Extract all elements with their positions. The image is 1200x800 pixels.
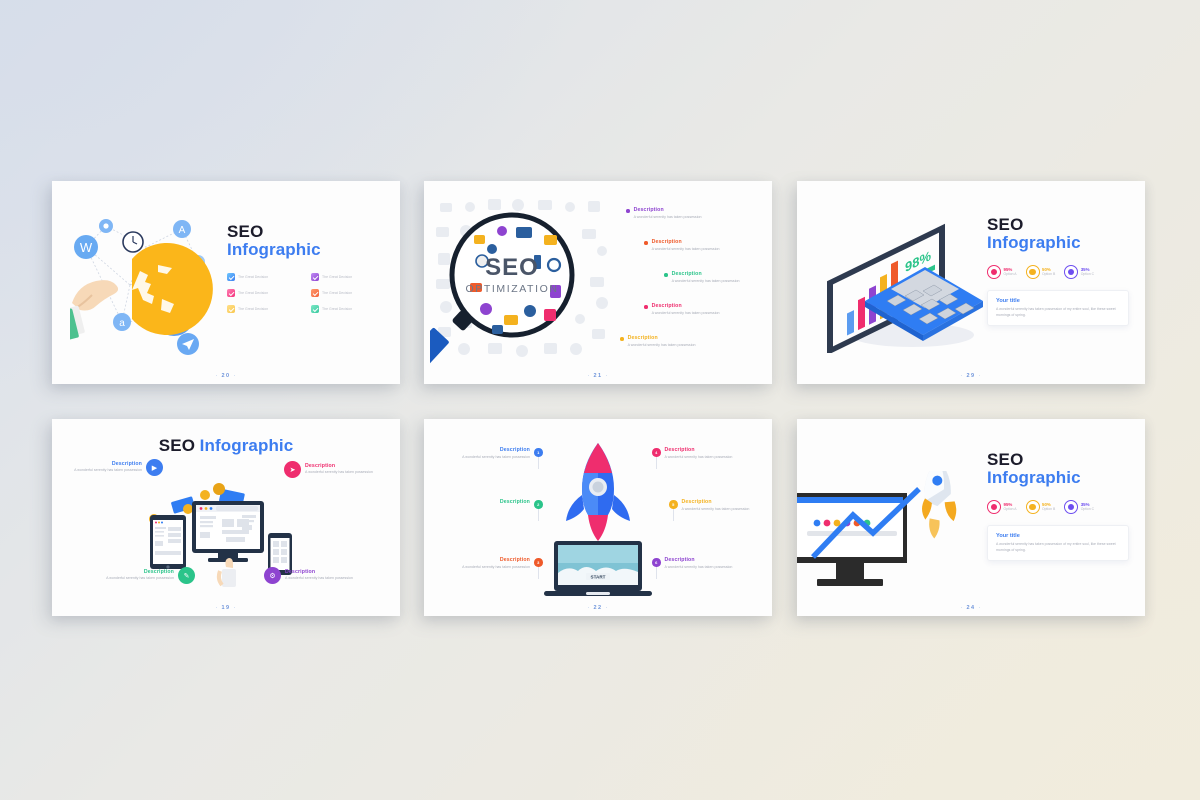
item-heading: Description — [665, 447, 739, 453]
card-body: A wonderful serenity has taken possessio… — [996, 542, 1120, 553]
magnifier-title: SEO — [485, 254, 539, 281]
page-number: · 21 · — [424, 373, 772, 379]
legend-label: The Great Decision — [322, 307, 352, 311]
check-icon — [311, 305, 319, 313]
slide-seo-network[interactable]: A W f a — [52, 181, 400, 384]
legend-label: The Great Decision — [322, 275, 352, 279]
item-heading: Description — [456, 447, 530, 453]
list-item[interactable]: Description A wonderful serenity has tak… — [664, 271, 740, 284]
list-item[interactable]: Description A wonderful serenity has tak… — [620, 335, 696, 348]
check-icon — [311, 273, 319, 281]
title-seo: SEO — [159, 436, 196, 455]
page-title: SEO Infographic — [987, 216, 1129, 252]
node-description-2[interactable]: ➤ Description A wonderful serenity has t… — [284, 461, 377, 478]
kpi-item[interactable]: 50% Option B — [1026, 265, 1056, 279]
svg-text:A: A — [179, 225, 186, 236]
page-title: SEO Infographic — [52, 437, 400, 456]
item-body: A wonderful serenity has taken possessio… — [634, 215, 702, 221]
item-body: A wonderful serenity has taken possessio… — [652, 247, 720, 253]
list-item[interactable]: The Great Decision — [311, 273, 387, 281]
slide-1-text-block: SEO Infographic The Great Decision The G… — [227, 223, 387, 313]
step-marker: 3 — [534, 558, 543, 567]
slide-seo-rocket[interactable]: START Description A wonderful serenity h… — [424, 419, 772, 616]
list-item[interactable]: The Great Decision — [227, 289, 303, 297]
title-infographic: Infographic — [987, 469, 1129, 487]
kpi-item[interactable]: 50% Option B — [1026, 500, 1056, 514]
title-seo: SEO — [987, 451, 1129, 469]
isometric-laptop-calculator-illustration: 98% — [807, 213, 987, 358]
page-number: · 20 · — [52, 373, 400, 379]
item-heading: Description — [652, 239, 720, 245]
slide-3-text-block: SEO Infographic 95% Option A 50% Option … — [987, 216, 1129, 326]
title-seo: SEO — [987, 216, 1129, 234]
rocket-laptop-illustration: START — [540, 437, 656, 604]
card-title: Your title — [996, 298, 1120, 304]
item-body: A wonderful serenity has taken possessio… — [285, 576, 357, 582]
chat-icon: ▶ — [146, 459, 163, 476]
kpi-item[interactable]: 35% Option C — [1064, 265, 1094, 279]
item-heading: Description — [456, 557, 530, 563]
item-heading: Description — [672, 271, 740, 277]
step-marker: 4 — [652, 448, 661, 457]
slide-6-text-block: SEO Infographic 95% Option A 50% Option … — [987, 451, 1129, 561]
kpi-option: Option C — [1081, 272, 1094, 276]
check-icon — [311, 289, 319, 297]
list-item[interactable]: Description A wonderful serenity has tak… — [626, 207, 702, 220]
list-item[interactable]: The Great Decision — [227, 305, 303, 313]
legend-label: The Great Decision — [322, 291, 352, 295]
step-marker: 2 — [534, 500, 543, 509]
step-marker: 1 — [534, 448, 543, 457]
list-item[interactable]: The Great Decision — [311, 305, 387, 313]
bullet-dot — [620, 337, 624, 341]
page-title: SEO Infographic — [227, 223, 387, 259]
kpi-option: Option A — [1004, 272, 1017, 276]
list-item[interactable]: The Great Decision — [311, 289, 387, 297]
step-marker: 6 — [652, 558, 661, 567]
kpi-row: 95% Option A 50% Option B 35% Option C — [987, 500, 1129, 514]
svg-text:W: W — [80, 240, 93, 255]
step-marker: 5 — [669, 500, 678, 509]
kpi-option: Option A — [1004, 507, 1017, 511]
slide-seo-optimization[interactable]: SEO OPTIMIZATION Description A wonderful… — [424, 181, 772, 384]
star-icon — [1064, 500, 1078, 514]
title-infographic: Infographic — [227, 241, 387, 259]
bullet-dot — [644, 241, 648, 245]
legend-label: The Great Decision — [238, 275, 268, 279]
kpi-option: Option C — [1081, 507, 1094, 511]
item-body: A wonderful serenity has taken possessio… — [672, 279, 740, 285]
item-body: A wonderful serenity has taken possessio… — [102, 576, 174, 582]
item-heading: Description — [456, 499, 530, 505]
page-number: · 29 · — [797, 373, 1145, 379]
page-number: · 19 · — [52, 605, 400, 611]
node-description-6[interactable]: 6 Description A wonderful serenity has t… — [652, 557, 739, 570]
monitor-growth-rocket-illustration — [797, 471, 983, 601]
item-body: A wonderful serenity has taken possessio… — [456, 455, 530, 461]
item-body: A wonderful serenity has taken possessio… — [70, 468, 142, 474]
node-description-1[interactable]: Description A wonderful serenity has tak… — [456, 447, 543, 460]
item-heading: Description — [102, 569, 174, 575]
item-heading: Description — [634, 207, 702, 213]
page-number: · 24 · — [797, 605, 1145, 611]
check-icon — [227, 273, 235, 281]
item-heading: Description — [682, 499, 756, 505]
key-icon — [987, 500, 1001, 514]
laptop-label: START — [591, 575, 606, 580]
title-seo: SEO — [227, 223, 387, 241]
node-description-4[interactable]: ⚙ Description A wonderful serenity has t… — [264, 567, 357, 584]
kpi-row: 95% Option A 50% Option B 35% Option C — [987, 265, 1129, 279]
list-item[interactable]: The Great Decision — [227, 273, 303, 281]
check-icon — [227, 289, 235, 297]
kpi-item[interactable]: 35% Option C — [1064, 500, 1094, 514]
item-body: A wonderful serenity has taken possessio… — [456, 565, 530, 571]
pencil-icon: ✎ — [178, 567, 195, 584]
item-body: A wonderful serenity has taken possessio… — [682, 507, 756, 513]
send-icon: ➤ — [284, 461, 301, 478]
kpi-option: Option B — [1042, 272, 1055, 276]
card-body: A wonderful serenity has taken possessio… — [996, 307, 1120, 318]
node-description-5[interactable]: 5 Description A wonderful serenity has t… — [669, 499, 756, 512]
gear-icon: ⚙ — [264, 567, 281, 584]
kpi-item[interactable]: 95% Option A — [987, 500, 1017, 514]
magnifier-subtitle: OPTIMIZATION — [465, 283, 558, 295]
legend-label: The Great Decision — [238, 307, 268, 311]
list-item[interactable]: Description A wonderful serenity has tak… — [644, 303, 720, 316]
title-infographic: Infographic — [200, 436, 294, 455]
devices-money-illustration — [134, 479, 318, 604]
item-heading: Description — [628, 335, 696, 341]
page-title: SEO Infographic — [987, 451, 1129, 487]
item-body: A wonderful serenity has taken possessio… — [305, 470, 377, 476]
item-heading: Description — [70, 461, 142, 467]
slide-deck-grid: A W f a — [0, 0, 1200, 800]
slide-seo-growth[interactable]: SEO Infographic 95% Option A 50% Option … — [797, 419, 1145, 616]
item-heading: Description — [305, 463, 377, 469]
node-description-3[interactable]: Description A wonderful serenity has tak… — [456, 557, 543, 570]
key-icon — [987, 265, 1001, 279]
info-card[interactable]: Your title A wonderful serenity has take… — [987, 525, 1129, 561]
item-body: A wonderful serenity has taken possessio… — [665, 565, 739, 571]
card-icon — [1026, 500, 1040, 514]
item-body: A wonderful serenity has taken possessio… — [665, 455, 739, 461]
svg-text:a: a — [119, 318, 125, 329]
item-body: A wonderful serenity has taken possessio… — [652, 311, 720, 317]
kpi-item[interactable]: 95% Option A — [987, 265, 1017, 279]
card-icon — [1026, 265, 1040, 279]
card-title: Your title — [996, 533, 1120, 539]
slide-seo-calculator[interactable]: 98% — [797, 181, 1145, 384]
page-number: · 22 · — [424, 605, 772, 611]
node-description-4[interactable]: 4 Description A wonderful serenity has t… — [652, 447, 739, 460]
slide-seo-devices[interactable]: SEO Infographic — [52, 419, 400, 616]
description-list: Description A wonderful serenity has tak… — [612, 203, 762, 368]
info-card[interactable]: Your title A wonderful serenity has take… — [987, 290, 1129, 326]
bullet-dot — [644, 305, 648, 309]
item-heading: Description — [652, 303, 720, 309]
check-icon — [227, 305, 235, 313]
hand-holding-globe-network-illustration: A W f a — [70, 199, 220, 359]
node-description-2[interactable]: Description 2 — [456, 499, 543, 509]
node-description-3[interactable]: Description A wonderful serenity has tak… — [102, 567, 195, 584]
magnifier-icon-cloud-illustration: SEO OPTIMIZATION — [430, 191, 615, 371]
node-description-1[interactable]: Description A wonderful serenity has tak… — [70, 459, 163, 476]
list-item[interactable]: Description A wonderful serenity has tak… — [644, 239, 720, 252]
kpi-option: Option B — [1042, 507, 1055, 511]
bullet-dot — [626, 209, 630, 213]
item-heading: Description — [285, 569, 357, 575]
item-heading: Description — [665, 557, 739, 563]
item-body: A wonderful serenity has taken possessio… — [628, 343, 696, 349]
legend-label: The Great Decision — [238, 291, 268, 295]
star-icon — [1064, 265, 1078, 279]
legend-list: The Great Decision The Great Decision Th… — [227, 273, 387, 313]
title-infographic: Infographic — [987, 234, 1129, 252]
bullet-dot — [664, 273, 668, 277]
